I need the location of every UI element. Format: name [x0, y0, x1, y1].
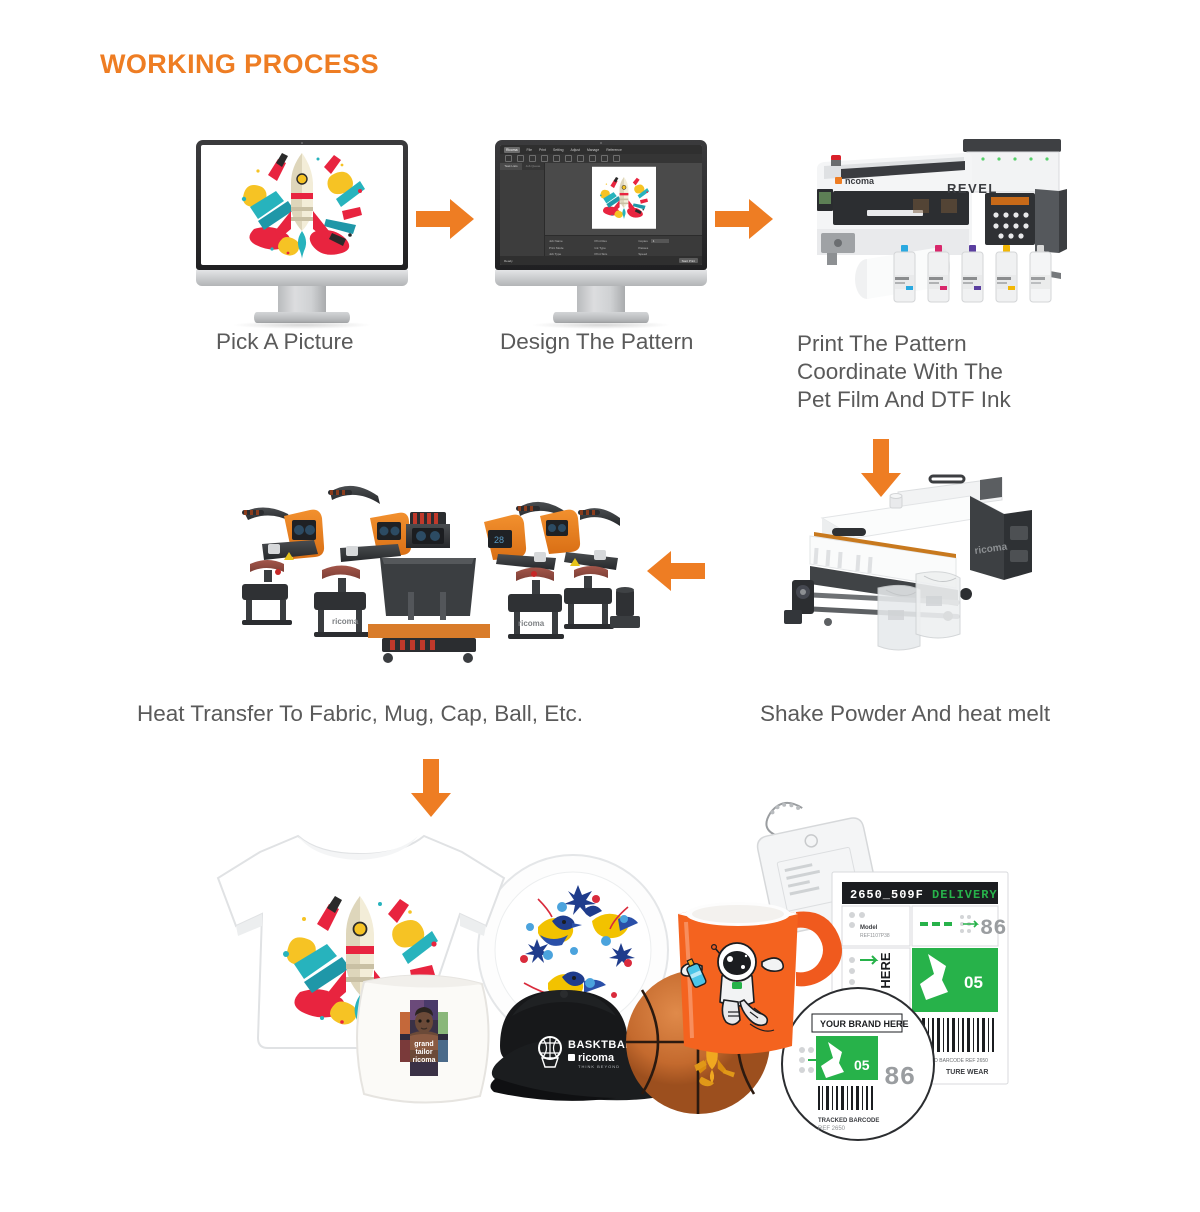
- property-key: Copies: [638, 239, 647, 243]
- software-menubar: Ricoma File Print Setting Adjust Manage …: [500, 145, 702, 154]
- pillow-text-line-1: grand: [414, 1041, 433, 1048]
- property-key: Ink Type: [595, 246, 606, 250]
- toolbar-color-icon[interactable]: [589, 155, 596, 162]
- properties-column-1: Job Name Print Mode Job Type: [549, 239, 585, 253]
- step-label-shake-powder: Shake Powder And heat melt: [760, 700, 1120, 728]
- heat-press-unit: [242, 507, 324, 625]
- property-row: Passes: [638, 246, 669, 250]
- toolbar-print-icon[interactable]: [613, 155, 620, 162]
- menu-item-manage[interactable]: Manage: [587, 148, 599, 152]
- svg-text:28: 28: [494, 535, 504, 545]
- graffiti-rocket-artwork-canvas: [592, 167, 656, 229]
- step-print-the-pattern-visual: ncoma REVEL: [795, 133, 1090, 318]
- toolbar-redo-icon[interactable]: [541, 155, 548, 162]
- svg-text:ricoma: ricoma: [332, 617, 359, 626]
- tab-job-queue[interactable]: Job Queue: [522, 163, 544, 170]
- svg-text:REF1107P38: REF1107P38: [860, 933, 890, 939]
- tab-task-lists[interactable]: Task Lists: [500, 163, 522, 170]
- arrow-right-2: [713, 196, 775, 242]
- svg-text:ricoma: ricoma: [518, 619, 545, 628]
- property-row: Print Res: [595, 239, 629, 243]
- monitor-bezel: Ricoma File Print Setting Adjust Manage …: [495, 140, 707, 270]
- final-products-group: 2650_509F DELIVERY Model REF1107P38 86 S…: [190, 800, 1020, 1200]
- properties-column-3: Copies 1 Passes Speed: [638, 239, 669, 253]
- property-key: Print Res: [595, 239, 607, 243]
- status-text: Ready: [504, 259, 513, 263]
- toolbar-rotate-icon[interactable]: [577, 155, 584, 162]
- monitor-chin: [196, 270, 408, 286]
- svg-text:Model: Model: [860, 925, 878, 931]
- properties-column-2: Print Res Ink Type Print Size: [595, 239, 629, 253]
- monitor-screen: [201, 145, 403, 265]
- svg-text:ncoma: ncoma: [845, 176, 875, 186]
- software-side-panel: Task Lists Job Queue: [500, 163, 545, 256]
- menu-item-adjust[interactable]: Adjust: [571, 148, 580, 152]
- arrow-left-1: [645, 548, 707, 594]
- arrow-right-1: [414, 196, 476, 242]
- label-star-number: 05: [964, 973, 983, 992]
- start-print-button[interactable]: Start Print: [679, 258, 698, 263]
- property-key: Job Name: [549, 239, 563, 243]
- toolbar-save-icon[interactable]: [517, 155, 524, 162]
- property-value[interactable]: 1: [651, 239, 669, 243]
- monitor-chin: [495, 270, 707, 286]
- software-canvas[interactable]: [545, 163, 702, 235]
- property-row: Ink Type: [595, 246, 629, 250]
- property-row: Copies 1: [638, 239, 669, 243]
- design-software-window: Ricoma File Print Setting Adjust Manage …: [500, 145, 702, 265]
- monitor-screen: Ricoma File Print Setting Adjust Manage …: [500, 145, 702, 265]
- step-shake-powder-visual: ricoma: [770, 470, 1070, 655]
- label-big-number: 86: [980, 916, 1006, 941]
- menu-item-ricoma[interactable]: Ricoma: [504, 147, 520, 153]
- step-label-print-the-pattern: Print The Pattern Coordinate With The Pe…: [797, 330, 1077, 414]
- property-key: Passes: [638, 246, 648, 250]
- software-status-bar: Ready Start Print: [500, 256, 702, 265]
- cap-text-bottom: ricoma: [578, 1052, 615, 1064]
- menu-item-setting[interactable]: Setting: [553, 148, 564, 152]
- throw-pillow: grand tailor ricoma: [357, 975, 489, 1102]
- toolbar-open-icon[interactable]: [505, 155, 512, 162]
- pillow-text-line-2: tailor: [415, 1049, 432, 1056]
- round-delivery-label: YOUR BRAND HERE 05 86 TRACKED BARCODE RE…: [782, 988, 934, 1140]
- menu-item-file[interactable]: File: [527, 148, 532, 152]
- round-label-big-number: 86: [884, 1062, 915, 1092]
- step-label-heat-transfer: Heat Transfer To Fabric, Mug, Cap, Ball,…: [137, 700, 667, 728]
- label-wear-text: TURE WEAR: [946, 1069, 988, 1076]
- monitor-bezel: [196, 140, 408, 270]
- toolbar-layer-icon[interactable]: [601, 155, 608, 162]
- step-heat-transfer-visual: ricoma 28: [222, 472, 642, 672]
- step-label-design-the-pattern: Design The Pattern: [500, 328, 800, 356]
- round-label-star-number: 05: [854, 1057, 870, 1073]
- toolbar-crop-icon[interactable]: [565, 155, 572, 162]
- menu-item-print[interactable]: Print: [539, 148, 546, 152]
- label-header-word: DELIVERY: [932, 888, 998, 902]
- svg-text:REF 2650: REF 2650: [818, 1126, 846, 1132]
- software-properties-panel: Job Name Print Mode Job Type: [545, 235, 702, 256]
- property-key: Print Mode: [549, 246, 564, 250]
- svg-text:THINK BEYOND: THINK BEYOND: [578, 1064, 620, 1069]
- toolbar-zoom-icon[interactable]: [553, 155, 560, 162]
- menu-item-reference[interactable]: Reference: [606, 148, 622, 152]
- property-row: Job Name: [549, 239, 585, 243]
- svg-text:TRACKED BARCODE: TRACKED BARCODE: [818, 1118, 879, 1124]
- round-label-brand: YOUR BRAND HERE: [820, 1019, 909, 1029]
- pillow-text-line-3: ricoma: [413, 1057, 436, 1064]
- page-title: WORKING PROCESS: [100, 49, 379, 80]
- step-label-pick-a-picture: Pick A Picture: [216, 328, 476, 356]
- toolbar-undo-icon[interactable]: [529, 155, 536, 162]
- software-toolbar[interactable]: [500, 154, 702, 163]
- step-pick-a-picture-visual: [196, 140, 408, 310]
- property-row: Print Mode: [549, 246, 585, 250]
- label-header-code: 2650_509F: [850, 888, 924, 902]
- step-design-the-pattern-visual: Ricoma File Print Setting Adjust Manage …: [495, 140, 707, 310]
- software-panel-tabs[interactable]: Task Lists Job Queue: [500, 163, 544, 170]
- graffiti-rocket-artwork: [201, 145, 403, 265]
- canvas-page: [592, 167, 656, 229]
